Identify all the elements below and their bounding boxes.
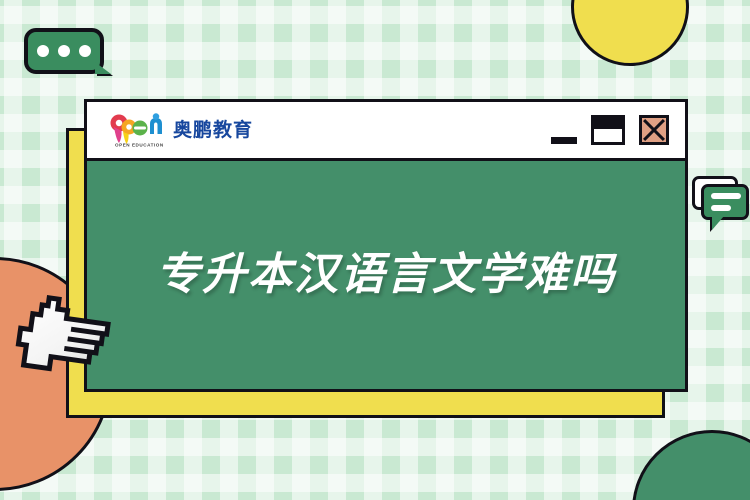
minimize-icon xyxy=(551,137,577,144)
open-logo-icon: OPEN EDUCATION xyxy=(109,112,165,148)
bubble-text-line xyxy=(711,193,741,199)
bubble-dots xyxy=(28,32,100,70)
brand-name: 奥鹏教育 xyxy=(173,121,253,140)
bubble-dot xyxy=(58,45,70,57)
close-button[interactable] xyxy=(639,115,669,145)
minimize-button[interactable] xyxy=(551,114,577,146)
window-content: 专升本汉语言文学难吗 xyxy=(87,161,685,389)
bubble-front-layer xyxy=(701,184,749,220)
logo-subtitle: OPEN EDUCATION xyxy=(115,143,164,148)
window-controls xyxy=(551,102,669,158)
maximize-button[interactable] xyxy=(591,115,625,145)
window-titlebar: OPEN EDUCATION 奥鹏教育 xyxy=(87,102,685,161)
poster-canvas: OPEN EDUCATION 奥鹏教育 专升本汉语言文学难吗 xyxy=(0,0,750,500)
speech-bubble-stack-icon xyxy=(692,176,750,238)
bubble-tail xyxy=(95,62,111,74)
page-title: 专升本汉语言文学难吗 xyxy=(156,247,616,303)
browser-window: OPEN EDUCATION 奥鹏教育 专升本汉语言文学难吗 xyxy=(84,99,688,392)
bubble-text-line xyxy=(711,205,731,211)
bubble-tail xyxy=(712,216,724,230)
bubble-dot xyxy=(37,45,49,57)
speech-bubble-dots-icon xyxy=(24,28,104,74)
bubble-dot xyxy=(79,45,91,57)
brand-logo[interactable]: OPEN EDUCATION 奥鹏教育 xyxy=(109,112,253,148)
pointing-hand-cursor-icon xyxy=(7,278,117,394)
